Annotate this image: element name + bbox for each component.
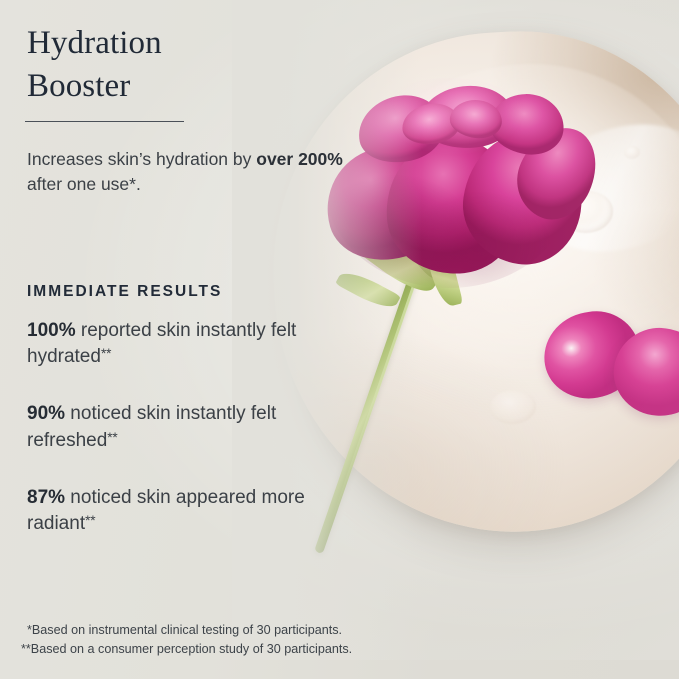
page-title-line-1: Hydration bbox=[27, 25, 162, 61]
subtitle-claim: Increases skin’s hydration by over 200% … bbox=[27, 147, 367, 197]
footnote-single-asterisk: *Based on instrumental clinical testing … bbox=[27, 621, 487, 640]
title-divider bbox=[25, 121, 184, 122]
footnote-double-asterisk: **Based on a consumer perception study o… bbox=[21, 640, 487, 659]
product-claims-infographic: Hydration Booster Increases skin’s hydra… bbox=[0, 0, 679, 679]
stat-text: noticed skin appeared more radiant bbox=[27, 487, 305, 534]
stat-footnote-marker: ** bbox=[107, 430, 117, 445]
subtitle-part-1: Increases skin’s hydration by bbox=[27, 149, 256, 169]
subtitle-emphasis: over 200% bbox=[256, 149, 343, 169]
stat-text: noticed skin instantly felt refreshed bbox=[27, 403, 276, 450]
text-content: Hydration Booster Increases skin’s hydra… bbox=[0, 0, 679, 679]
footnotes: *Based on instrumental clinical testing … bbox=[27, 621, 487, 659]
stat-value: 87% bbox=[27, 487, 65, 508]
stat-item: 100% reported skin instantly felt hydrat… bbox=[27, 318, 357, 370]
subtitle-part-2: after one use*. bbox=[27, 174, 141, 194]
stat-footnote-marker: ** bbox=[101, 346, 111, 361]
stat-value: 100% bbox=[27, 320, 76, 341]
stats-list: 100% reported skin instantly felt hydrat… bbox=[27, 318, 357, 537]
page-title-line-2: Booster bbox=[27, 65, 357, 108]
page-title: Hydration Booster bbox=[27, 22, 357, 108]
section-heading-immediate-results: IMMEDIATE RESULTS bbox=[27, 283, 222, 301]
stat-footnote-marker: ** bbox=[85, 513, 95, 528]
stat-item: 87% noticed skin appeared more radiant** bbox=[27, 485, 357, 537]
stat-item: 90% noticed skin instantly felt refreshe… bbox=[27, 401, 357, 453]
stat-value: 90% bbox=[27, 403, 65, 424]
